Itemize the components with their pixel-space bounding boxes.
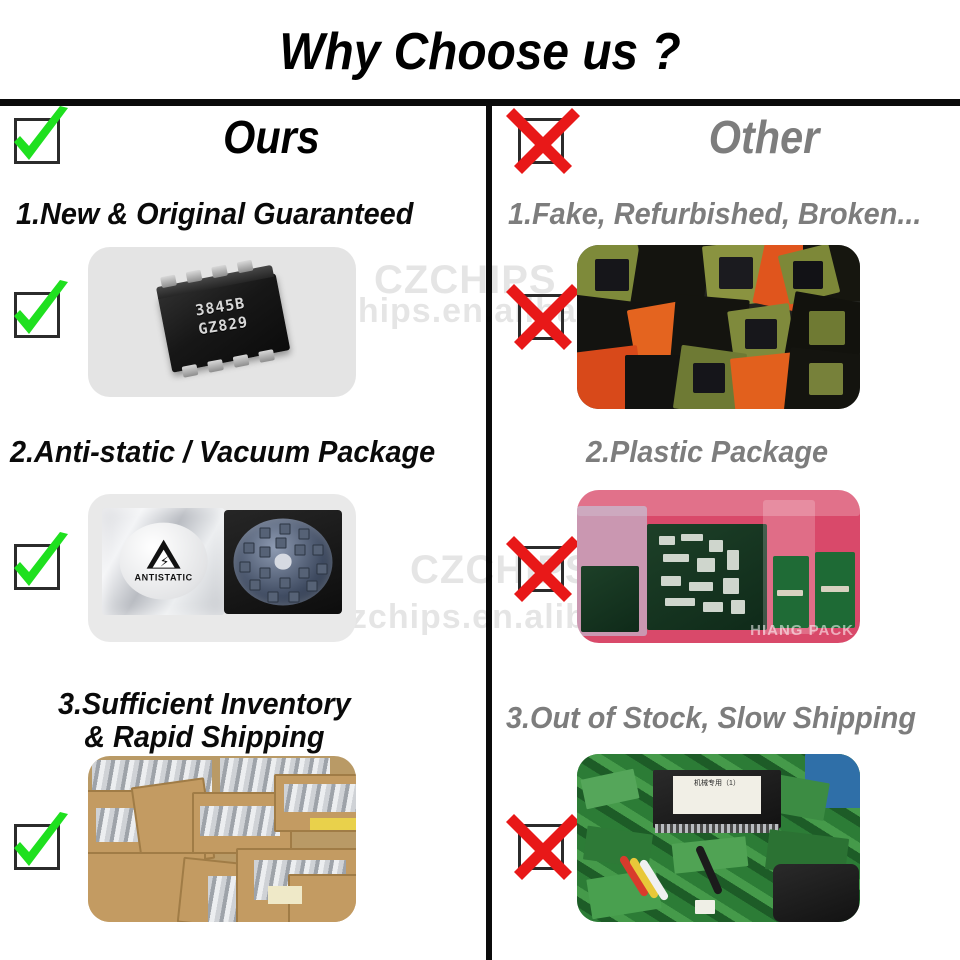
column-other: Other 1.Fake, Refurbished, Broken... [492, 106, 960, 960]
photo-ours-antistatic-package: ⚡ ANTISTATIC [88, 494, 356, 642]
photo-inner: HIANG PACK [577, 490, 860, 643]
column-heading-ours: Ours [26, 110, 490, 164]
check-mark-row-2 [14, 544, 60, 590]
photo-inner: ⚡ ANTISTATIC [88, 494, 356, 642]
photo-ours-new-original: 3845B GZ829 [88, 247, 356, 397]
photo-ours-inventory-boxes [88, 756, 356, 922]
module-label-text: 机械专用（1） [673, 776, 761, 790]
check-icon [2, 528, 78, 604]
check-mark-header [14, 118, 60, 164]
photo-other-fake-chips [577, 245, 860, 409]
reel-hub [274, 554, 292, 570]
photo-inner: 机械专用（1） [577, 754, 860, 922]
row-label-ours-2: 2.Anti-static / Vacuum Package [10, 436, 435, 469]
antistatic-label-disc: ⚡ ANTISTATIC [119, 523, 208, 600]
cross-mark-row-3 [518, 824, 564, 870]
reel-disc [234, 518, 333, 605]
check-icon [2, 102, 78, 178]
antistatic-text: ANTISTATIC [135, 573, 193, 583]
column-ours: Ours 1.New & Original Guaranteed [0, 106, 486, 960]
check-icon [2, 808, 78, 884]
cross-icon [506, 278, 582, 354]
row-label-ours-3: 3.Sufficient Inventory & Rapid Shipping [58, 688, 351, 754]
lightning-bolt-icon: ⚡ [160, 555, 170, 569]
module-label: 机械专用（1） [673, 776, 761, 814]
black-panel [773, 864, 859, 922]
chip-marking: 3845B GZ829 [194, 288, 285, 339]
check-mark-row-1 [14, 292, 60, 338]
row-label-other-2: 2.Plastic Package [586, 436, 828, 469]
page-title: Why Choose us ? [38, 22, 921, 82]
cross-icon [506, 530, 582, 606]
cross-mark-row-1 [518, 294, 564, 340]
row-label-other-3: 3.Out of Stock, Slow Shipping [506, 702, 916, 735]
check-mark-row-3 [14, 824, 60, 870]
photo-inner: 3845B GZ829 [88, 247, 356, 397]
cross-mark-row-2 [518, 546, 564, 592]
photo-inner [577, 245, 860, 409]
tape-reel [224, 510, 342, 614]
photo-other-out-of-stock: 机械专用（1） [577, 754, 860, 922]
cross-icon [506, 808, 582, 884]
infographic-canvas: Why Choose us ? CZCHIPS czchips.en.aliba… [0, 0, 960, 960]
cross-mark-header [518, 118, 564, 164]
check-icon [2, 276, 78, 352]
column-heading-other: Other [517, 110, 960, 164]
chip-package: 3845B GZ829 [158, 273, 291, 372]
photo-watermark: HIANG PACK [750, 622, 854, 639]
photo-other-plastic-package: HIANG PACK [577, 490, 860, 643]
esd-warning-triangle-icon: ⚡ [147, 540, 181, 569]
antistatic-foil-bag: ⚡ ANTISTATIC [102, 508, 225, 615]
row-label-ours-1: 1.New & Original Guaranteed [16, 198, 413, 231]
row-label-other-1: 1.Fake, Refurbished, Broken... [508, 198, 921, 231]
horizontal-divider [0, 99, 960, 106]
cross-icon [506, 102, 582, 178]
photo-inner [88, 756, 356, 922]
